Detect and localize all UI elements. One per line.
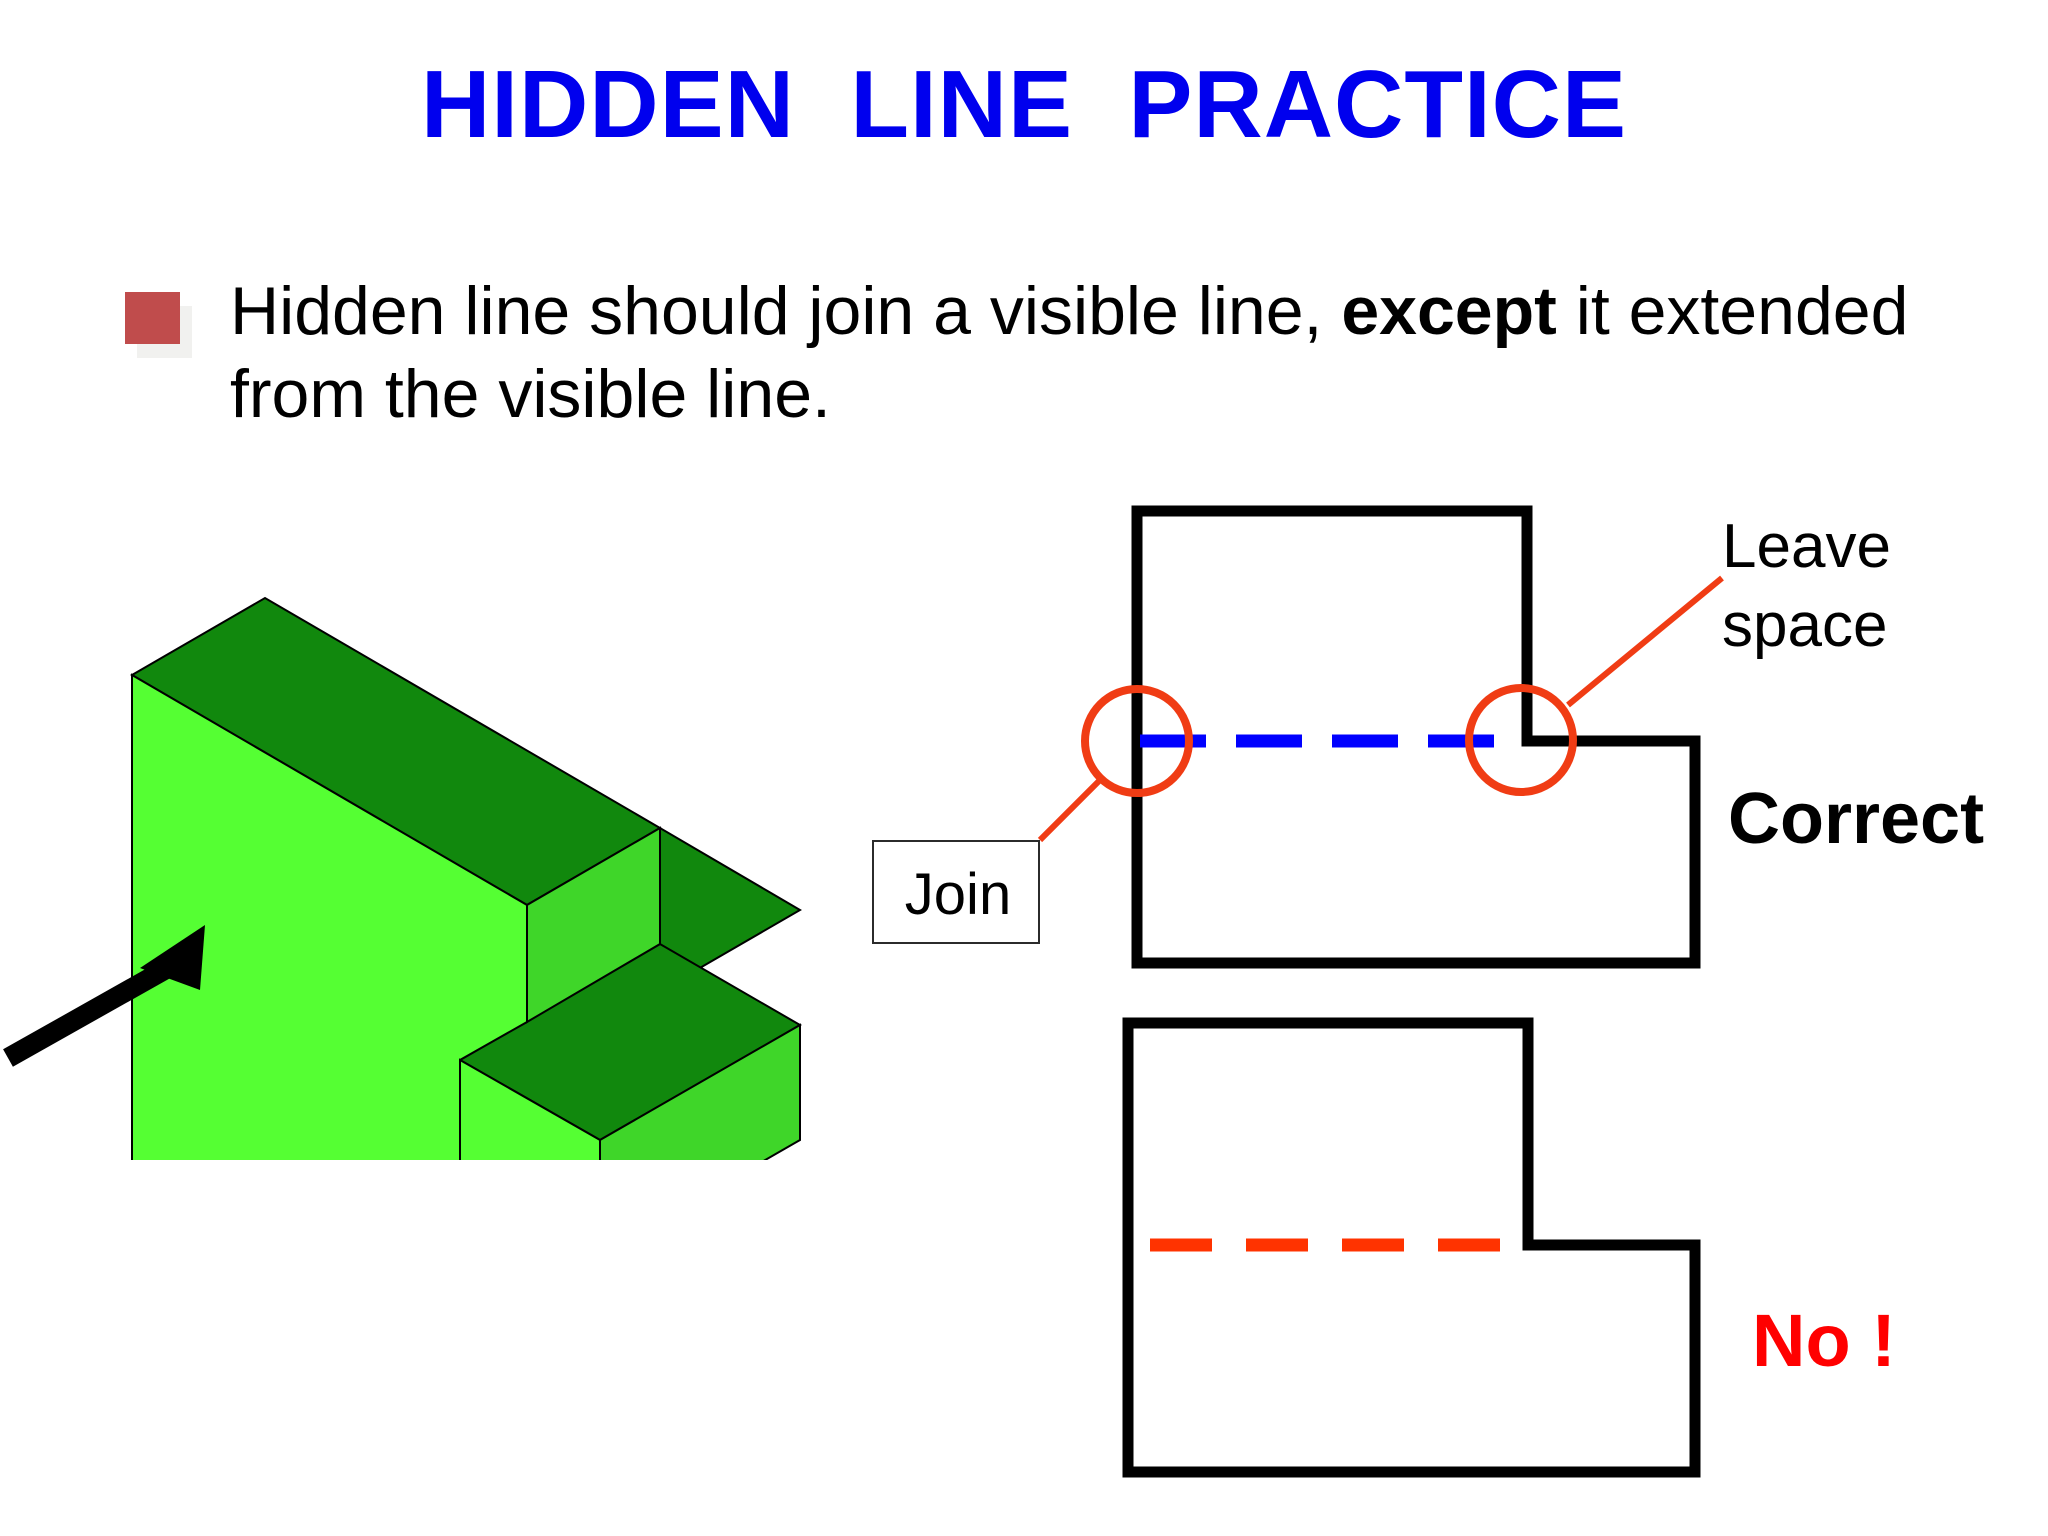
- leave-space-label: Leave space: [1722, 507, 1891, 666]
- correct-view-outline: [1137, 511, 1695, 963]
- isometric-block-drawing: [0, 520, 860, 1160]
- join-leader-line: [1040, 778, 1102, 840]
- slide-canvas: HIDDEN LINE PRACTICE Hidden line should …: [0, 0, 2048, 1536]
- page-title: HIDDEN LINE PRACTICE: [0, 52, 2048, 158]
- join-callout-box: Join: [872, 840, 1040, 944]
- red-square-bullet-icon: [125, 292, 180, 344]
- leave-space-leader-line: [1568, 578, 1722, 705]
- bullet-text: Hidden line should join a visible line, …: [230, 270, 1930, 436]
- join-label: Join: [874, 842, 1042, 946]
- no-label: No !: [1752, 1298, 1896, 1383]
- correct-view: [1040, 511, 1722, 963]
- correct-label: Correct: [1728, 778, 1984, 860]
- wrong-view: [1128, 1023, 1695, 1472]
- bullet-square: [125, 292, 180, 344]
- bullet-text-part1: Hidden line should join a visible line,: [230, 273, 1341, 349]
- bullet-text-emphasis: except: [1341, 273, 1556, 349]
- wrong-view-outline: [1128, 1023, 1695, 1472]
